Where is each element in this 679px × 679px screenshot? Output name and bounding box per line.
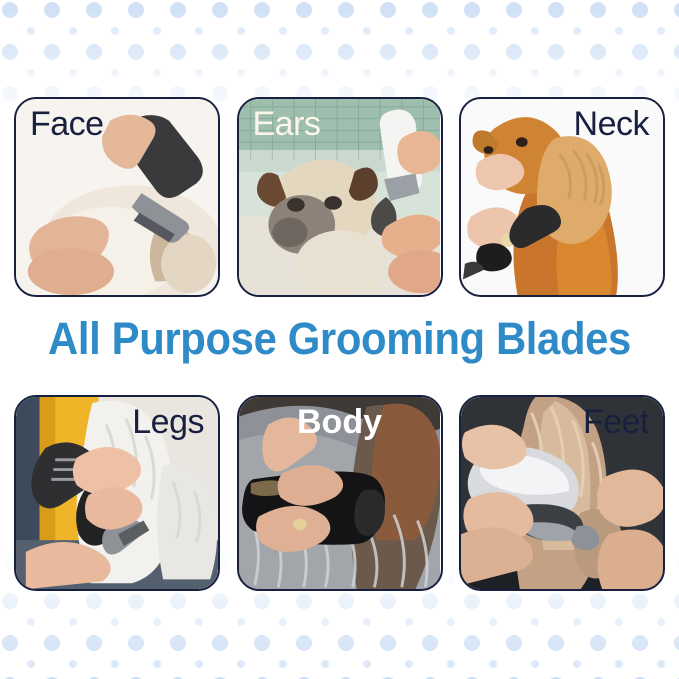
tile-body[interactable]: Body [237,395,443,591]
tile-neck[interactable]: Neck [459,97,665,297]
tile-row-top: Face [0,97,679,297]
tile-label-neck: Neck [574,105,649,144]
grooming-blades-infographic: Face [0,0,679,679]
tile-label-body: Body [239,403,441,442]
tile-ears[interactable]: Ears [237,97,443,297]
tile-face[interactable]: Face [14,97,220,297]
tile-legs[interactable]: Legs [14,395,220,591]
tile-label-legs: Legs [132,403,204,442]
tile-label-feet: Feet [583,403,649,442]
tile-row-bottom: Legs [0,395,679,591]
tile-feet[interactable]: Feet [459,395,665,591]
page-title: All Purpose Grooming Blades [24,313,655,365]
tile-label-face: Face [30,105,104,144]
tile-label-ears: Ears [253,105,321,144]
